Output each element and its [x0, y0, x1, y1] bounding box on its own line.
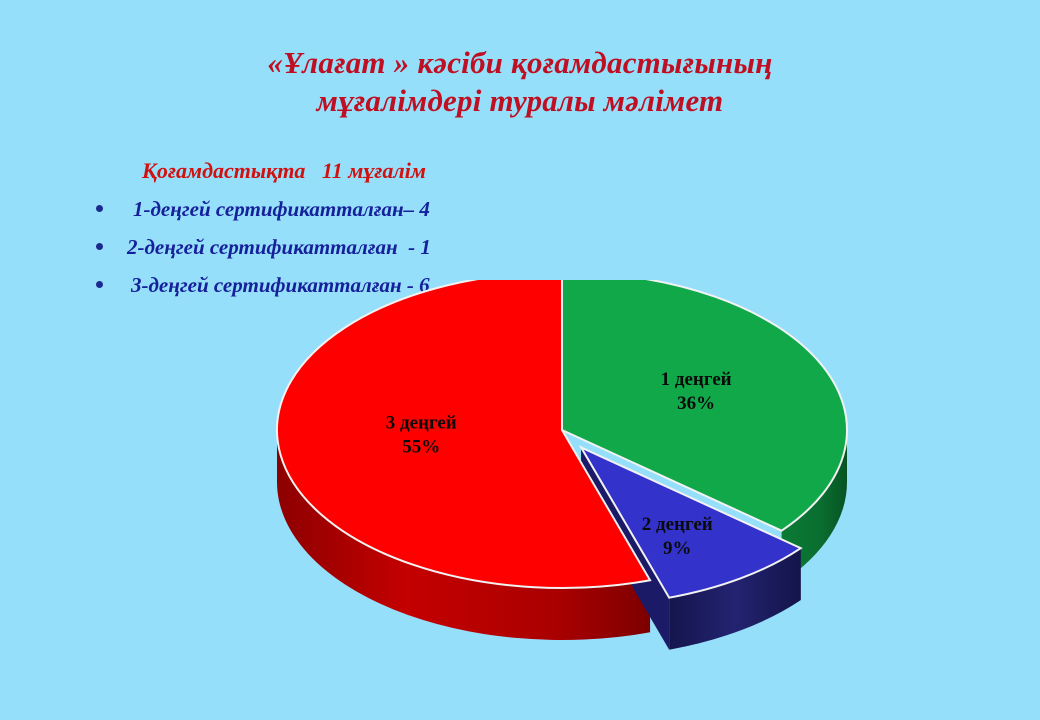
subheading-total-teachers: Қоғамдастықта 11 мұғалім [142, 158, 426, 184]
bullet-dot-icon [96, 281, 103, 288]
list-item-label: 2-деңгей сертификатталған - 1 [127, 230, 431, 264]
bullet-dot-icon [96, 243, 103, 250]
pie-chart: 1 деңгей36%2 деңгей9%3 деңгей55% [260, 280, 900, 700]
title-line-1: «Ұлағат » кәсіби қоғамдастығының [0, 44, 1040, 82]
page-title: «Ұлағат » кәсіби қоғамдастығының мұғалім… [0, 44, 1040, 120]
list-item: 2-деңгей сертификатталған - 1 [96, 230, 616, 268]
list-item-label: 1-деңгей сертификатталған– 4 [133, 192, 430, 226]
bullet-dot-icon [96, 205, 103, 212]
pie-chart-svg: 1 деңгей36%2 деңгей9%3 деңгей55% [260, 280, 900, 700]
slide-canvas: «Ұлағат » кәсіби қоғамдастығының мұғалім… [0, 0, 1040, 720]
title-line-2: мұғалімдері туралы мәлімет [0, 82, 1040, 120]
list-item: 1-деңгей сертификатталған– 4 [96, 192, 616, 230]
